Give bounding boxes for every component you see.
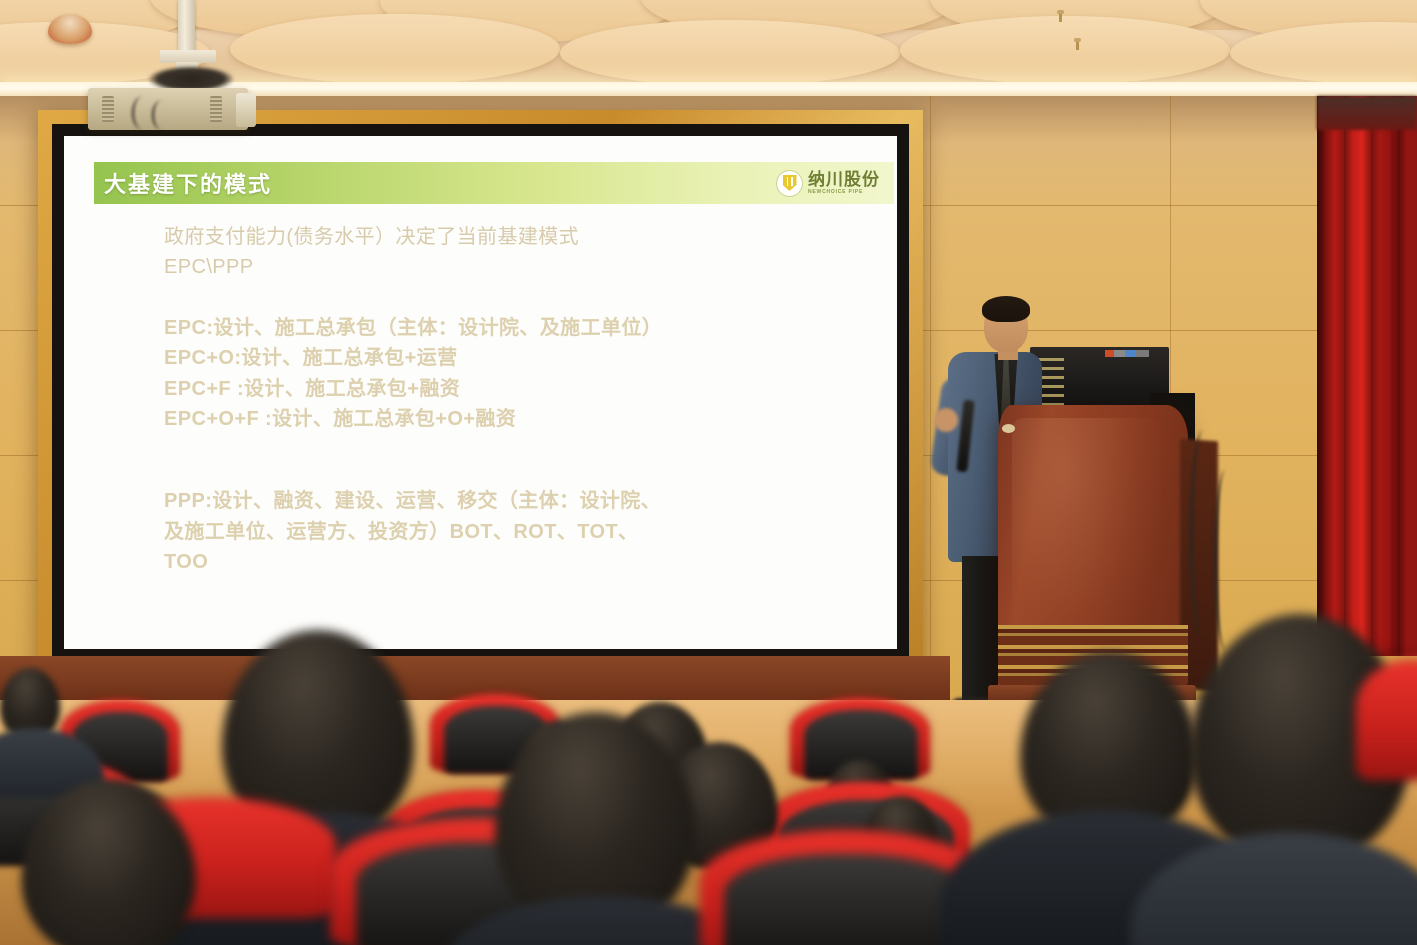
slide-epc-line-3: EPC+F :设计、施工总承包+融资 <box>164 374 884 404</box>
projection-screen: 大基建下的模式 纳川股份 NEWCHOICE PIPE 政府支付能力(债务水平）… <box>64 136 897 649</box>
brand-name-cn: 纳川股份 <box>808 171 880 188</box>
presenter-leg <box>962 556 998 706</box>
presenter-hand <box>934 408 958 432</box>
shield-emblem-icon <box>777 171 802 196</box>
conference-hall-scene: 大基建下的模式 纳川股份 NEWCHOICE PIPE 政府支付能力(债务水平）… <box>0 0 1417 945</box>
podium-highlight <box>1012 418 1162 658</box>
slide-body: 政府支付能力(债务水平）决定了当前基建模式 EPC\PPP EPC:设计、施工总… <box>164 222 884 578</box>
presenter-hair <box>982 296 1030 322</box>
slide-title: 大基建下的模式 <box>104 167 272 199</box>
stage-skirt <box>0 656 950 700</box>
slide-epc-line-4: EPC+O+F :设计、施工总承包+O+融资 <box>164 404 884 434</box>
stage-curtain <box>1317 96 1417 656</box>
projector-lens-icon <box>236 93 256 127</box>
sprinkler-icon <box>1057 10 1064 22</box>
slide-epc-line-2: EPC+O:设计、施工总承包+运营 <box>164 343 884 373</box>
brand-name-en: NEWCHOICE PIPE <box>808 190 880 195</box>
curtain-valance <box>1317 96 1417 130</box>
slide-ppp-line-2: 及施工单位、运营方、投资方）BOT、ROT、TOT、 <box>164 517 884 547</box>
slide-epc-line-1: EPC:设计、施工总承包（主体：设计院、及施工单位） <box>164 313 884 343</box>
slide-lead-line-1: 政府支付能力(债务水平）决定了当前基建模式 <box>164 222 884 252</box>
company-logo: 纳川股份 NEWCHOICE PIPE <box>777 171 880 196</box>
slide-title-bar: 大基建下的模式 纳川股份 NEWCHOICE PIPE <box>94 162 894 204</box>
slide-ppp-line-3: TOO <box>164 547 884 577</box>
seat-cushion-foreground <box>724 854 968 945</box>
podium-emblem-icon <box>1002 424 1015 433</box>
monitor-status-lights <box>1105 350 1149 357</box>
sprinkler-icon <box>1074 38 1081 50</box>
smoke-detector-icon <box>48 14 92 44</box>
projector-mount-pole <box>178 0 195 56</box>
slide-ppp-line-1: PPP:设计、融资、建设、运营、移交（主体：设计院、 <box>164 486 884 516</box>
slide-lead-line-2: EPC\PPP <box>164 252 884 282</box>
